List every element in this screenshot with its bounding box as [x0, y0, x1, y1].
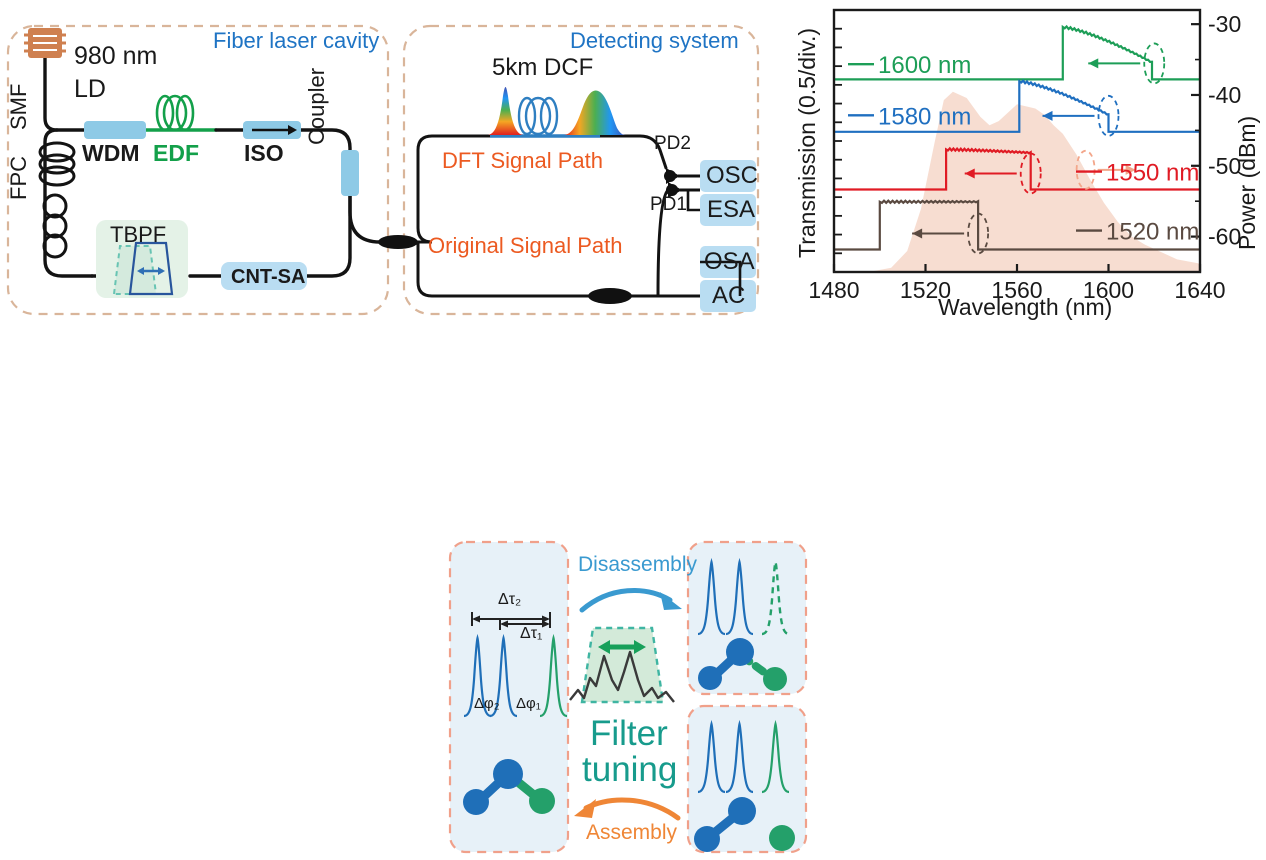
- y-tick-label-right: -40: [1208, 82, 1241, 108]
- pump-label-line1: 980 nm: [74, 44, 157, 69]
- smf-label: SMF: [8, 84, 30, 130]
- disassembly-arrow-icon: [582, 591, 682, 610]
- assembly-schematic-panel: Disassembly Assembly Filter tuning Δτ₂ Δ…: [430, 530, 850, 860]
- pump-ld-icon: [24, 28, 66, 58]
- broad-spectrum-icon: [564, 91, 626, 136]
- pd1-label: PD1: [650, 195, 687, 214]
- legend-label: 1550 nm: [1106, 160, 1199, 187]
- delta-tau1-label: Δτ₁: [520, 626, 542, 642]
- disassembly-label: Disassembly: [578, 554, 697, 575]
- delta-phi1-label: Δφ₁: [516, 696, 541, 711]
- osc-label: OSC: [706, 164, 758, 188]
- filter-tuning-line1: Filter: [590, 716, 668, 751]
- fiber-coupler-to-cnt: [307, 196, 350, 276]
- x-tick-label: 1480: [808, 277, 859, 303]
- pd2-detector-icon: [664, 168, 700, 184]
- tuning-ellipse-1600-nm: [1144, 43, 1164, 83]
- edf-coil-icon: [157, 96, 193, 130]
- y-tick-label-right: -30: [1208, 11, 1241, 37]
- x-tick-label: 1640: [1174, 277, 1225, 303]
- dcf-label: 5km DCF: [492, 56, 593, 80]
- iso-component: [243, 121, 301, 139]
- osa-label: OSA: [704, 250, 755, 274]
- cnt-sa-label: CNT-SA: [231, 267, 305, 287]
- original-path-label: Original Signal Path: [428, 235, 622, 257]
- delta-phi2-label: Δφ₂: [474, 696, 500, 711]
- transmission-spectra-chart: 14801520156016001640-30-40-50-601600 nm1…: [790, 0, 1266, 330]
- coupler-label: Coupler: [306, 68, 328, 145]
- setup-schematic-panel: Fiber laser cavity Detecting system 980 …: [0, 0, 800, 330]
- edf-label: EDF: [153, 142, 199, 165]
- assembly-arrow-icon: [574, 799, 678, 818]
- cavity-title: Fiber laser cavity: [213, 30, 379, 52]
- fpc-label: FPC: [8, 156, 30, 200]
- tunable-filter-icon: [570, 628, 674, 702]
- fpc-coil-icon: [44, 195, 66, 257]
- coupler-component: [341, 150, 359, 196]
- legend-label: 1520 nm: [1106, 219, 1199, 246]
- esa-label: ESA: [707, 198, 755, 222]
- fiber-coupler-out: [350, 196, 380, 242]
- detecting-title: Detecting system: [570, 30, 739, 52]
- chart-xlabel: Wavelength (nm): [938, 296, 1112, 319]
- tbpf-label: TBPF: [110, 224, 166, 246]
- legend-label: 1600 nm: [878, 52, 971, 79]
- fiber-connector-2-icon: [588, 288, 632, 304]
- dcf-coil-icon: [519, 98, 557, 134]
- chart-ylabel-left: Transmission (0.5/div.): [796, 28, 819, 258]
- narrow-spectrum-icon: [488, 87, 523, 135]
- ac-label: AC: [712, 284, 745, 308]
- assembly-label: Assembly: [586, 822, 677, 843]
- dft-path-label: DFT Signal Path: [442, 150, 603, 172]
- chart-ylabel-right: Power (dBm): [1236, 116, 1259, 250]
- legend-label: 1580 nm: [878, 103, 971, 130]
- pd2-label: PD2: [654, 134, 691, 153]
- fiber-laser-cavity-box: [8, 26, 388, 314]
- pump-label-line2: LD: [74, 77, 106, 102]
- wdm-component: [84, 121, 146, 139]
- delta-tau2-label: Δτ₂: [498, 592, 521, 608]
- wdm-label: WDM: [82, 142, 139, 165]
- chart-svg: 14801520156016001640-30-40-50-601600 nm1…: [790, 0, 1266, 330]
- iso-label: ISO: [244, 142, 284, 165]
- fiber-connector-1-icon: [378, 235, 418, 249]
- filter-tuning-line2: tuning: [582, 752, 677, 787]
